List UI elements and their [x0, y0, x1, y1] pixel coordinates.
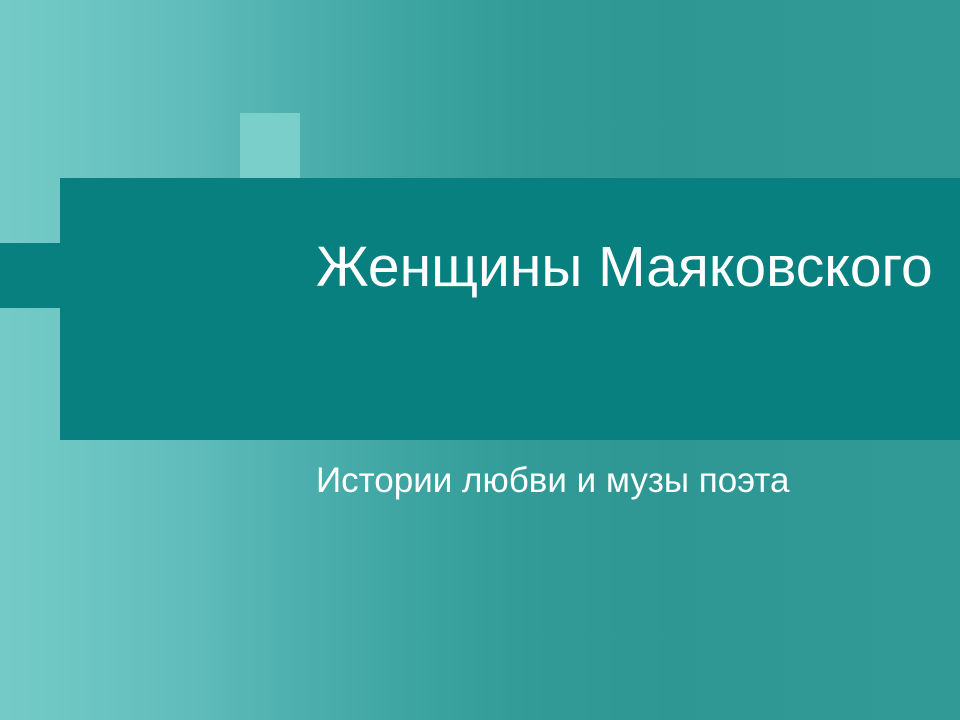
page-title: Женщины Маяковского [316, 236, 936, 300]
page-subtitle: Истории любви и музы поэта [316, 460, 956, 502]
subtitle-placeholder[interactable]: Истории любви и музы поэта [316, 460, 956, 502]
mosaic-tile [0, 243, 60, 308]
presentation-title-slide: Женщины Маяковского Истории любви и музы… [0, 0, 960, 720]
mosaic-tile [240, 113, 300, 178]
title-band [60, 178, 960, 440]
title-placeholder[interactable]: Женщины Маяковского [316, 236, 936, 300]
